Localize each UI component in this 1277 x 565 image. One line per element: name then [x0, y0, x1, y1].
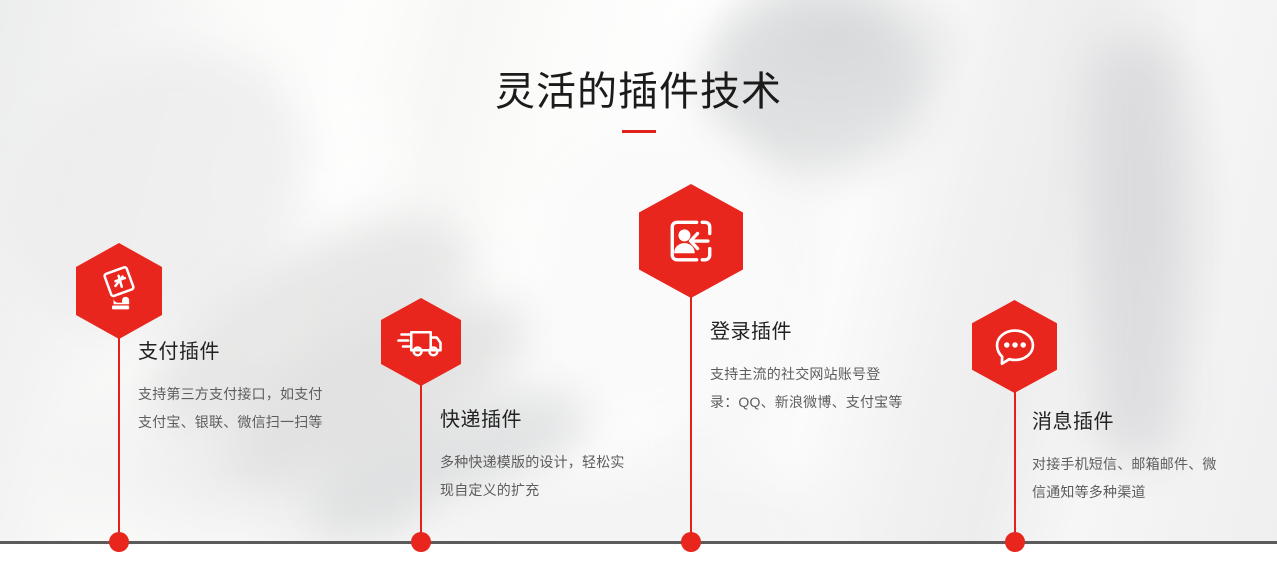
plugin-description: 支持第三方支付接口，如支付支付宝、银联、微信扫一扫等: [138, 380, 330, 436]
timeline-dot: [109, 532, 129, 552]
timeline-dot: [411, 532, 431, 552]
plugin-description: 对接手机短信、邮箱邮件、微信通知等多种渠道: [1032, 450, 1224, 506]
page-title: 灵活的插件技术: [0, 66, 1277, 118]
plugin-text-block: 消息插件 对接手机短信、邮箱邮件、微信通知等多种渠道: [1032, 408, 1224, 506]
plugin-text-block: 登录插件 支持主流的社交网站账号登录：QQ、新浪微博、支付宝等: [710, 318, 906, 416]
connector-stem: [1014, 380, 1016, 544]
plugin-title: 支付插件: [138, 338, 330, 366]
background-bottom-band: [0, 544, 1277, 565]
plugin-title: 快递插件: [440, 406, 636, 434]
plugin-description: 多种快递模版的设计，轻松实现自定义的扩充: [440, 448, 636, 504]
plugin-description: 支持主流的社交网站账号登录：QQ、新浪微博、支付宝等: [710, 360, 906, 416]
connector-stem: [420, 378, 422, 544]
connector-stem: [118, 332, 120, 544]
plugin-technology-section: 灵活的插件技术 支付插件 支持第三方支付接口，如支付支付宝、银联、微信扫一扫等: [0, 0, 1277, 565]
plugin-text-block: 支付插件 支持第三方支付接口，如支付支付宝、银联、微信扫一扫等: [138, 338, 330, 436]
connector-stem: [690, 290, 692, 544]
plugin-title: 登录插件: [710, 318, 906, 346]
plugin-title: 消息插件: [1032, 408, 1224, 436]
section-heading: 灵活的插件技术: [0, 66, 1277, 133]
title-underline-rule: [622, 130, 656, 133]
timeline-dot: [1005, 532, 1025, 552]
timeline-dot: [681, 532, 701, 552]
plugin-text-block: 快递插件 多种快递模版的设计，轻松实现自定义的扩充: [440, 406, 636, 504]
timeline-axis: [0, 541, 1277, 544]
